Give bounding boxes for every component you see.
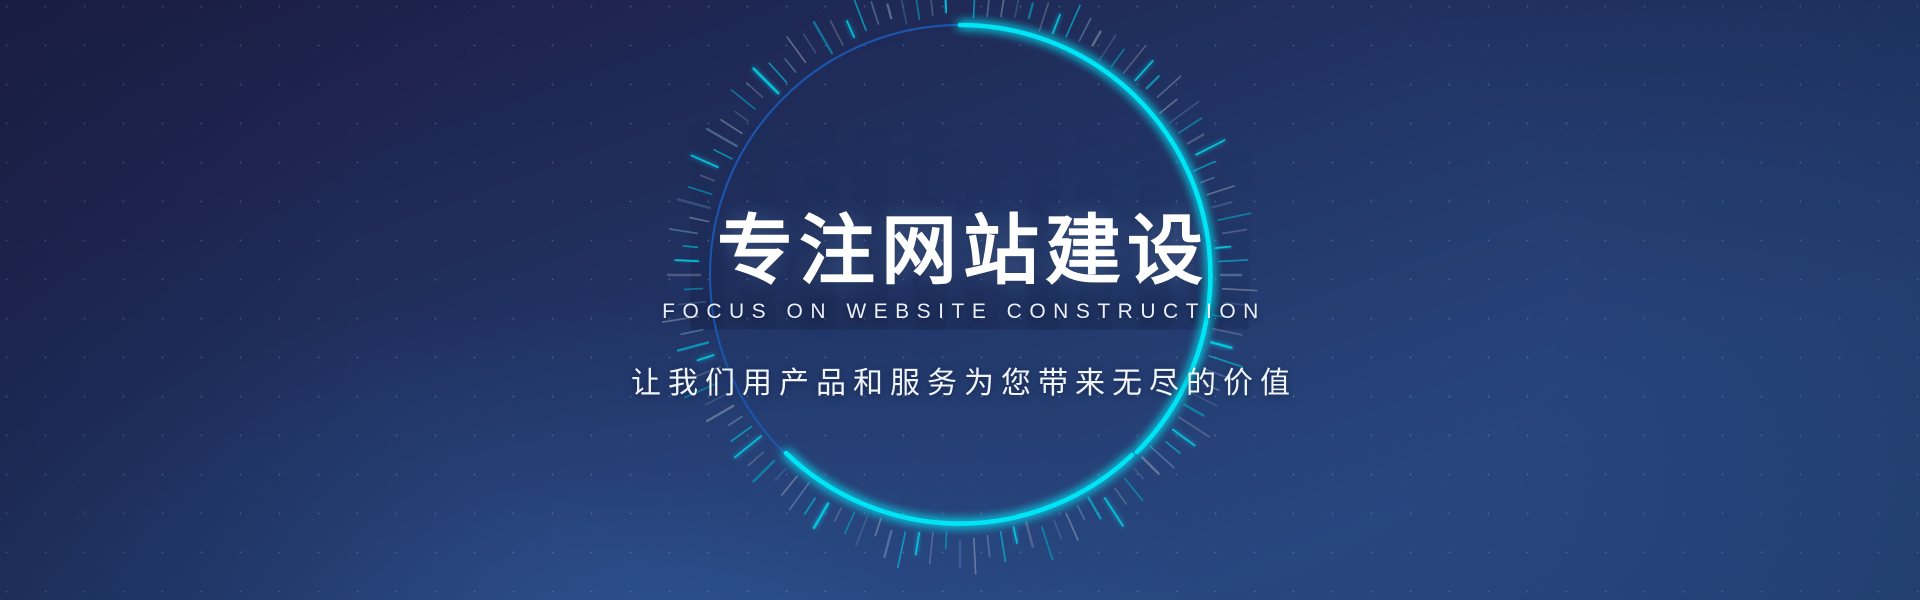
subtitle-english: FOCUS ON WEBSITE CONSTRUCTION [654,300,1266,324]
subtitle-chinese: 让我们用产品和服务为您带来无尽的价值 [623,358,1297,402]
page-title: 专注网站建设 [711,214,1209,290]
hero-banner: 专注网站建设 FOCUS ON WEBSITE CONSTRUCTION 让我们… [0,0,1920,600]
hero-text-block: 专注网站建设 FOCUS ON WEBSITE CONSTRUCTION 让我们… [0,0,1920,600]
